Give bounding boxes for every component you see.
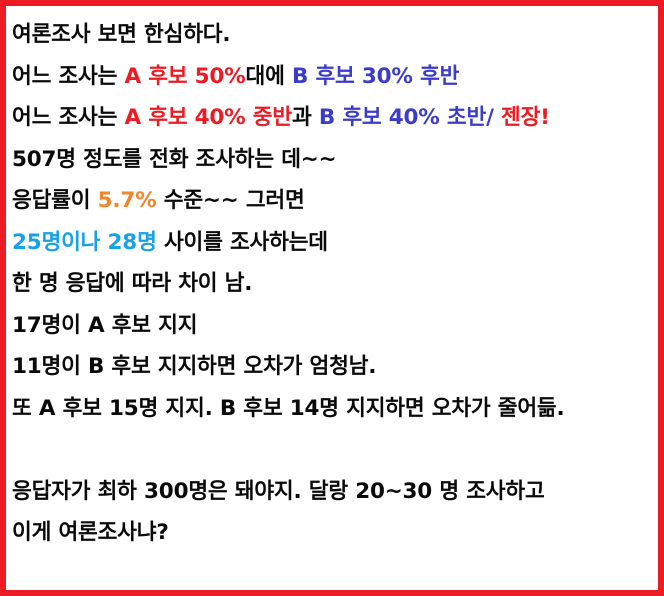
text-segment-black: 대에 (246, 64, 292, 89)
text-segment-black: 사이를 조사하는데 (157, 230, 328, 255)
text-segment-black: 여론조사 보면 한심하다. (12, 22, 230, 47)
text-line: 응답자가 최하 300명은 돼야지. 달랑 20~30 명 조사하고 (12, 471, 650, 513)
text-segment-black: 어느 조사는 (12, 105, 124, 130)
text-segment-blue: B 후보 40% 초반 (319, 105, 486, 130)
text-line: 응답률이 5.7% 수준~~ 그러면 (12, 180, 650, 222)
poster-text-block: 여론조사 보면 한심하다.어느 조사는 A 후보 50%대에 B 후보 30% … (10, 14, 654, 554)
text-line: 25명이나 28명 사이를 조사하는데 (12, 222, 650, 264)
text-segment-orange: 5.7% (98, 188, 157, 213)
text-segment-black: 응답자가 최하 300명은 돼야지. 달랑 20~30 명 조사하고 (12, 479, 545, 504)
text-line: 여론조사 보면 한심하다. (12, 14, 650, 56)
text-line: 11명이 B 후보 지지하면 오차가 엄청남. (12, 346, 650, 388)
text-segment-black: 어느 조사는 (12, 64, 124, 89)
text-segment-black: 수준~~ 그러면 (156, 188, 304, 213)
blank-line (12, 429, 650, 471)
text-segment-red: 젠장! (494, 105, 550, 130)
text-segment-black: 과 (292, 105, 319, 130)
text-segment-black: 응답률이 (12, 188, 98, 213)
text-segment-black: 이게 여론조사냐? (12, 520, 169, 545)
text-segment-black: 17명이 A 후보 지지 (12, 313, 197, 338)
text-poster: 여론조사 보면 한심하다.어느 조사는 A 후보 50%대에 B 후보 30% … (0, 0, 664, 596)
text-line: 어느 조사는 A 후보 40% 중반과 B 후보 40% 초반/ 젠장! (12, 97, 650, 139)
text-segment-black: 한 명 응답에 따라 차이 남. (12, 271, 252, 296)
text-segment-red: A 후보 50% (124, 64, 245, 89)
text-line: 한 명 응답에 따라 차이 남. (12, 263, 650, 305)
text-segment-blue: / (486, 105, 494, 130)
text-line: 17명이 A 후보 지지 (12, 305, 650, 347)
text-segment-black: 507명 정도를 전화 조사하는 데~~ (12, 147, 336, 172)
text-line: 어느 조사는 A 후보 50%대에 B 후보 30% 후반 (12, 56, 650, 98)
text-segment-black: 11명이 B 후보 지지하면 오차가 엄청남. (12, 354, 376, 379)
text-segment-red: A 후보 40% 중반 (124, 105, 291, 130)
text-segment-black: 또 A 후보 15명 지지. B 후보 14명 지지하면 오차가 줄어듦. (12, 396, 564, 421)
text-segment-cyan: 25명이나 28명 (12, 230, 157, 255)
text-line: 이게 여론조사냐? (12, 512, 650, 554)
text-segment-blue: B 후보 30% 후반 (292, 64, 459, 89)
text-line: 또 A 후보 15명 지지. B 후보 14명 지지하면 오차가 줄어듦. (12, 388, 650, 430)
text-line: 507명 정도를 전화 조사하는 데~~ (12, 139, 650, 181)
